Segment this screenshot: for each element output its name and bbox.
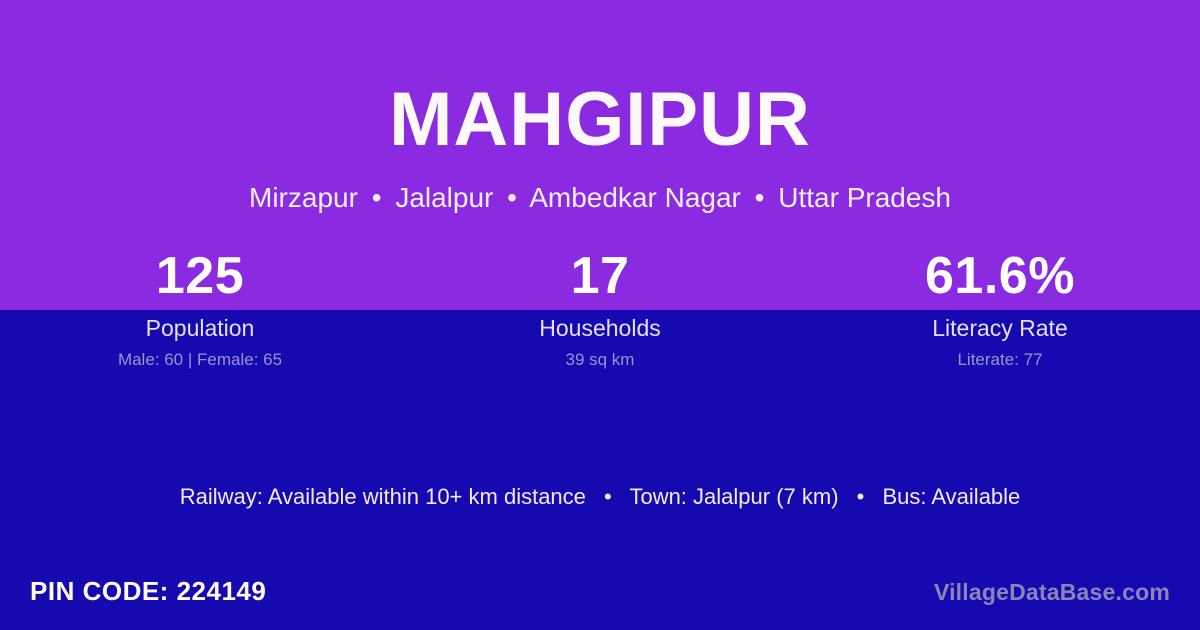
stat-value: 61.6% bbox=[800, 248, 1200, 305]
stat-value: 125 bbox=[0, 248, 400, 305]
page-title: MAHGIPUR bbox=[0, 82, 1200, 158]
stat-label: Households bbox=[400, 316, 800, 341]
stat-households: 17 Households 39 sq km bbox=[400, 248, 800, 388]
breadcrumb-separator: • bbox=[749, 182, 771, 213]
pin-code: PIN CODE: 224149 bbox=[30, 576, 266, 607]
breadcrumb-item-subdistrict: Jalalpur bbox=[395, 182, 493, 213]
stat-population: 125 Population Male: 60 | Female: 65 bbox=[0, 248, 400, 388]
stat-label: Literacy Rate bbox=[800, 316, 1200, 341]
stat-label: Population bbox=[0, 316, 400, 341]
infrastructure-item-railway: Railway: Available within 10+ km distanc… bbox=[180, 484, 586, 509]
breadcrumb-item-state: Uttar Pradesh bbox=[778, 182, 951, 213]
village-info-card: MAHGIPUR Mirzapur • Jalalpur • Ambedkar … bbox=[0, 0, 1200, 630]
site-brand: VillageDataBase.com bbox=[934, 579, 1170, 606]
breadcrumb-separator: • bbox=[501, 182, 523, 213]
infrastructure-separator: • bbox=[845, 484, 877, 509]
stat-detail: 39 sq km bbox=[400, 351, 800, 370]
stats-row: 125 Population Male: 60 | Female: 65 17 … bbox=[0, 248, 1200, 388]
breadcrumb: Mirzapur • Jalalpur • Ambedkar Nagar • U… bbox=[0, 182, 1200, 214]
stat-value: 17 bbox=[400, 248, 800, 305]
infrastructure-separator: • bbox=[592, 484, 624, 509]
breadcrumb-item-region: Ambedkar Nagar bbox=[529, 182, 741, 213]
stat-detail: Male: 60 | Female: 65 bbox=[0, 351, 400, 370]
infrastructure-summary: Railway: Available within 10+ km distanc… bbox=[0, 484, 1200, 510]
breadcrumb-item-district: Mirzapur bbox=[249, 182, 358, 213]
stat-detail: Literate: 77 bbox=[800, 351, 1200, 370]
breadcrumb-separator: • bbox=[366, 182, 388, 213]
stat-literacy-rate: 61.6% Literacy Rate Literate: 77 bbox=[800, 248, 1200, 388]
infrastructure-item-town: Town: Jalalpur (7 km) bbox=[629, 484, 838, 509]
infrastructure-item-bus: Bus: Available bbox=[882, 484, 1020, 509]
